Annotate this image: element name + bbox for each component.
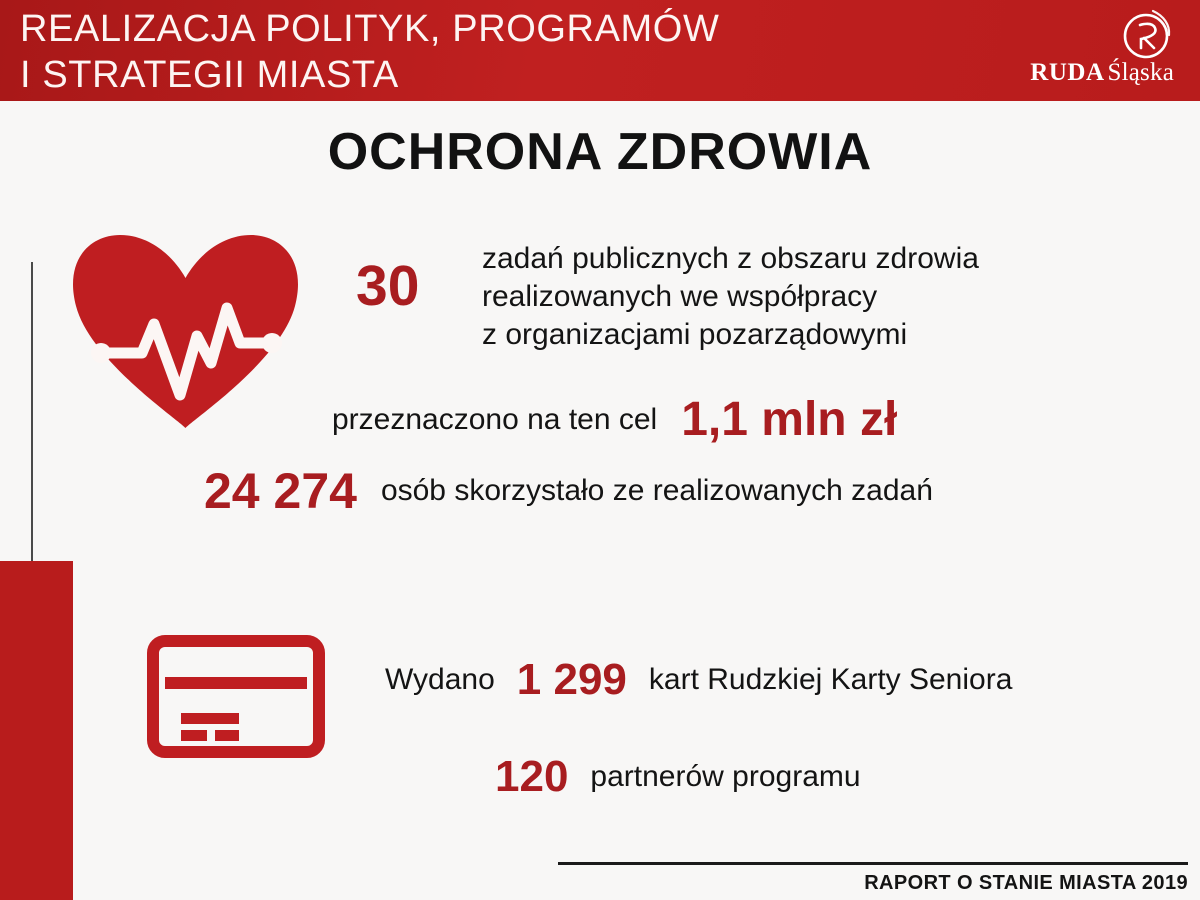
- logo-wordmark: RUDAŚląska: [1030, 60, 1174, 85]
- stat-label-karty-after: kart Rudzkiej Karty Seniora: [649, 663, 1013, 697]
- stat-label-karty-before: Wydano: [385, 663, 495, 697]
- stat-row-zadania: 30 zadań publicznych z obszaru zdrowia r…: [356, 240, 979, 354]
- footer-divider: [558, 862, 1188, 865]
- stat-label-osoby: osób skorzystało ze realizowanych zadań: [381, 474, 933, 508]
- payment-card-icon: [147, 635, 325, 758]
- stat-row-osoby: 24 274 osób skorzystało ze realizowanych…: [204, 462, 933, 520]
- page-title: OCHRONA ZDROWIA: [0, 122, 1200, 182]
- stat-row-karty: Wydano 1 299 kart Rudzkiej Karty Seniora: [385, 655, 1012, 705]
- logo-block: RUDAŚląska: [998, 8, 1178, 96]
- slide-root: REALIZACJA POLITYK, PROGRAMÓW I STRATEGI…: [0, 0, 1200, 900]
- stat-row-partnerzy: 120 partnerów programu: [495, 752, 861, 802]
- stat-number-karty: 1 299: [517, 655, 627, 705]
- header-bar: REALIZACJA POLITYK, PROGRAMÓW I STRATEGI…: [0, 0, 1200, 101]
- logo-word-slaska: Śląska: [1108, 59, 1174, 86]
- stat-number-zadania: 30: [356, 256, 419, 316]
- footer-report-label: RAPORT O STANIE MIASTA 2019: [864, 872, 1188, 895]
- stat-label-budzet: przeznaczono na ten cel: [332, 403, 657, 437]
- stat-number-osoby: 24 274: [204, 462, 357, 520]
- decor-vertical-line: [31, 262, 33, 562]
- heart-pulse-icon: [68, 232, 303, 432]
- stat-row-budzet: przeznaczono na ten cel 1,1 mln zł: [332, 392, 897, 447]
- logo-word-ruda: RUDA: [1030, 59, 1104, 86]
- stat-text-zadania: zadań publicznych z obszaru zdrowia real…: [482, 240, 979, 354]
- decor-red-block: [0, 561, 73, 900]
- header-title: REALIZACJA POLITYK, PROGRAMÓW I STRATEGI…: [20, 6, 950, 98]
- stat-number-partnerzy: 120: [495, 752, 568, 802]
- stat-number-budzet: 1,1 mln zł: [681, 392, 897, 447]
- stat-label-partnerzy: partnerów programu: [590, 760, 860, 794]
- ruda-slaska-crest-icon: [1120, 8, 1172, 60]
